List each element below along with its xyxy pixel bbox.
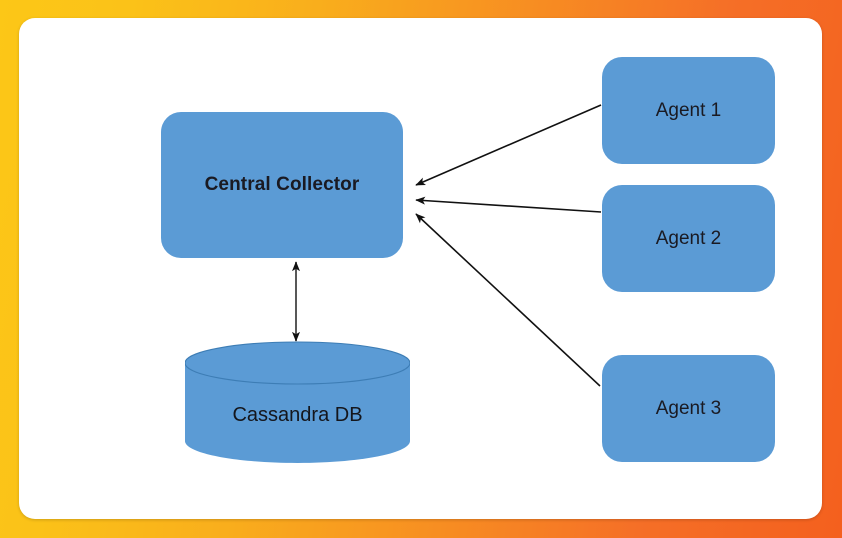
node-agent-1-label: Agent 1 xyxy=(656,100,722,122)
node-cassandra-db[interactable]: Cassandra DB xyxy=(185,341,410,465)
diagram-layer: Central Collector Agent 1 Agent 2 Agent … xyxy=(0,0,842,538)
node-agent-2-label: Agent 2 xyxy=(656,228,722,250)
node-agent-2[interactable]: Agent 2 xyxy=(602,185,775,292)
edge-agent-2-to-collector xyxy=(416,200,601,212)
node-agent-1[interactable]: Agent 1 xyxy=(602,57,775,164)
node-central-collector-label: Central Collector xyxy=(205,174,360,196)
edge-agent-3-to-collector xyxy=(416,214,600,386)
edge-agent-1-to-collector xyxy=(416,105,601,185)
node-agent-3[interactable]: Agent 3 xyxy=(602,355,775,462)
node-central-collector[interactable]: Central Collector xyxy=(161,112,403,258)
node-agent-3-label: Agent 3 xyxy=(656,398,722,420)
diagram-canvas: Central Collector Agent 1 Agent 2 Agent … xyxy=(0,0,842,538)
node-cassandra-db-label: Cassandra DB xyxy=(232,404,362,427)
